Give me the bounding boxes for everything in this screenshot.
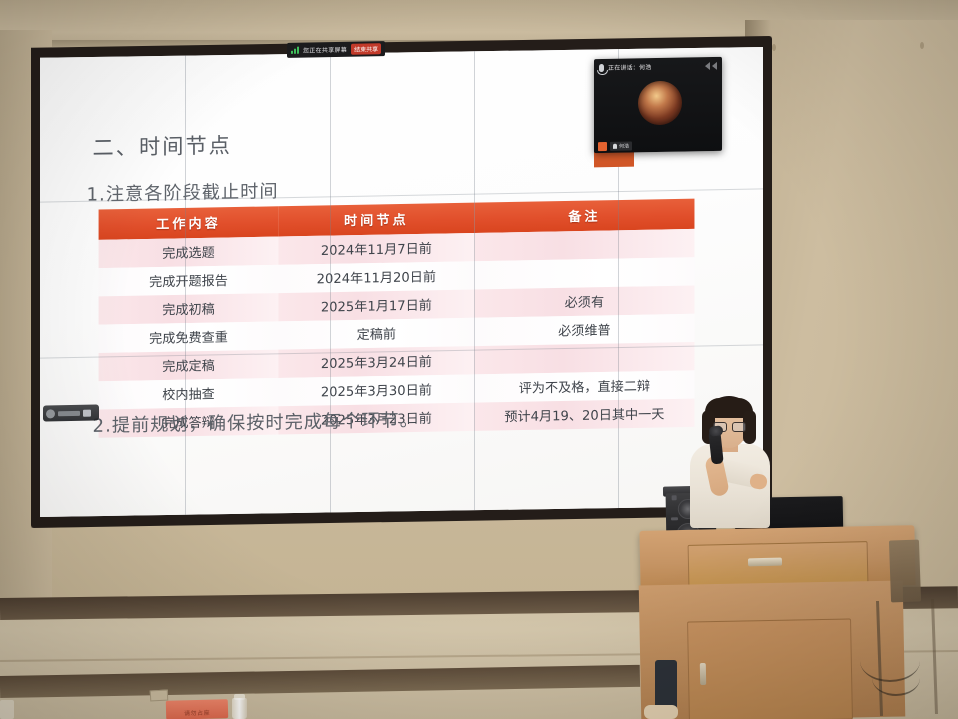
cell-remark: 预计4月19、20日其中一天	[474, 399, 694, 431]
signal-bars-icon	[291, 47, 299, 54]
share-status-text: 您正在共享屏幕	[303, 45, 347, 55]
toolbar-label-strip	[58, 410, 80, 415]
seat-sign-text: 请勿占座	[166, 707, 228, 718]
cell-task: 完成开题报告	[99, 265, 279, 297]
video-window-titlebar: 正在讲话：何浩	[594, 57, 722, 76]
cable	[872, 660, 920, 696]
schedule-table: 工作内容 时间节点 备注 完成选题 2024年11月7日前 完成开题报告	[99, 199, 695, 438]
paper-on-floor	[150, 690, 169, 702]
water-bottle	[232, 698, 247, 719]
pc-drive-slot	[672, 495, 677, 500]
wall-mark	[920, 42, 924, 49]
slide-subheading: 1.注意各阶段截止时间	[86, 177, 278, 207]
video-window-footer: 何浩	[594, 138, 722, 153]
panel-seam	[474, 47, 475, 517]
cell-task: 完成选题	[99, 237, 279, 269]
cell-remark	[474, 229, 694, 261]
toolbar-expand-icon[interactable]	[83, 409, 91, 416]
podium-side-equipment	[889, 539, 921, 602]
lecture-hall-scene: 请勿占座 二、时间节点 1.注意各阶段截止时间 工作内容 时间节点 备注	[0, 0, 958, 719]
participant-name-badge: 何浩	[610, 141, 632, 150]
cell-remark: 评为不及格，直接二辩	[474, 370, 694, 402]
toolbar-avatar-icon	[46, 409, 55, 418]
cell-deadline: 2024年11月20日前	[278, 261, 474, 293]
pc-port	[671, 517, 678, 520]
cell-task: 完成免费查重	[99, 321, 279, 353]
cell-task: 完成初稿	[99, 293, 279, 325]
column-header-task: 工作内容	[99, 206, 279, 240]
glasses-icon	[732, 422, 746, 432]
seat-sign: 请勿占座	[166, 699, 228, 719]
chevron-right-icon[interactable]	[705, 62, 717, 70]
presenter-with-microphone	[686, 396, 772, 528]
column-header-deadline: 时间节点	[278, 203, 474, 237]
cell-remark: 必须有	[474, 285, 694, 317]
screen-share-banner: 您正在共享屏幕 结束共享	[287, 41, 385, 58]
microphone-icon	[599, 63, 604, 71]
cell-deadline: 2025年3月30日前	[278, 374, 474, 406]
participant-video-window[interactable]: 正在讲话：何浩 何浩	[594, 57, 722, 153]
person-icon	[613, 144, 617, 149]
participant-name-label: 何浩	[619, 143, 629, 150]
podium-front-panel	[687, 618, 853, 719]
cell-deadline: 定稿前	[278, 318, 474, 350]
drawer-handle[interactable]	[748, 558, 782, 567]
presenter-shoe	[644, 705, 678, 719]
panel-handle[interactable]	[700, 663, 706, 685]
active-speaker-label: 正在讲话：何浩	[608, 62, 651, 72]
slide-heading: 二、时间节点	[93, 129, 232, 162]
meeting-floating-toolbar[interactable]	[43, 404, 99, 421]
stop-share-button[interactable]: 结束共享	[351, 43, 381, 55]
cell-remark: 必须维普	[474, 314, 694, 346]
cell-remark	[474, 257, 694, 289]
slide-footer-note: 2.提前规划，确保按时完成每个环节。	[93, 406, 419, 438]
cell-task: 校内抽查	[99, 378, 279, 410]
wall-mark	[772, 44, 776, 51]
panel-seam	[330, 47, 331, 517]
column-header-remark: 备注	[474, 199, 694, 233]
water-bottle-secondary	[0, 700, 14, 719]
cell-deadline: 2024年11月7日前	[278, 233, 474, 265]
cell-deadline: 2025年1月17日前	[278, 290, 474, 322]
recording-badge-icon	[598, 142, 607, 151]
panel-seam	[185, 47, 186, 517]
participant-avatar	[638, 81, 682, 126]
